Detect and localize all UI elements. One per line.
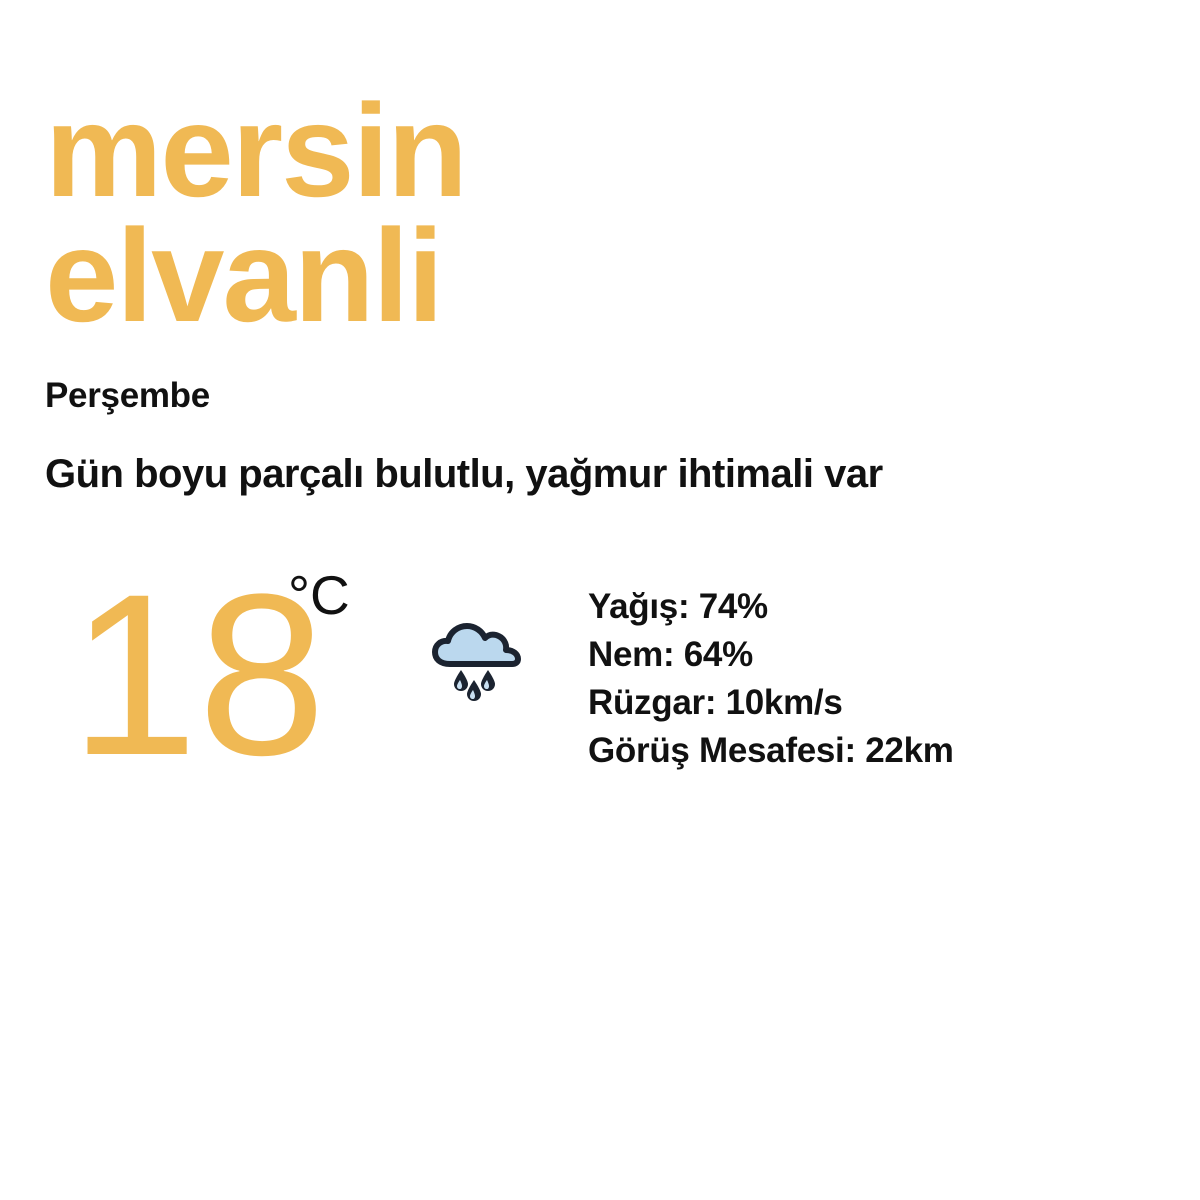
weather-stats-list: Yağış: 74% Nem: 64% Rüzgar: 10km/s Görüş… [588, 583, 1108, 775]
stat-humidity: Nem: 64% [588, 631, 1108, 679]
forecast-description: Gün boyu parçalı bulutlu, yağmur ihtimal… [45, 452, 883, 497]
temperature-unit: °C [288, 568, 350, 623]
stat-wind: Rüzgar: 10km/s [588, 679, 1108, 727]
rain-cloud-icon [428, 618, 524, 702]
stat-precipitation: Yağış: 74% [588, 583, 1108, 631]
stat-visibility: Görüş Mesafesi: 22km [588, 727, 1108, 775]
location-title: mersin elvanli [45, 88, 605, 339]
forecast-day-name: Perşembe [45, 376, 210, 416]
weather-card: mersin elvanli Perşembe Gün boyu parçalı… [0, 0, 1200, 1200]
